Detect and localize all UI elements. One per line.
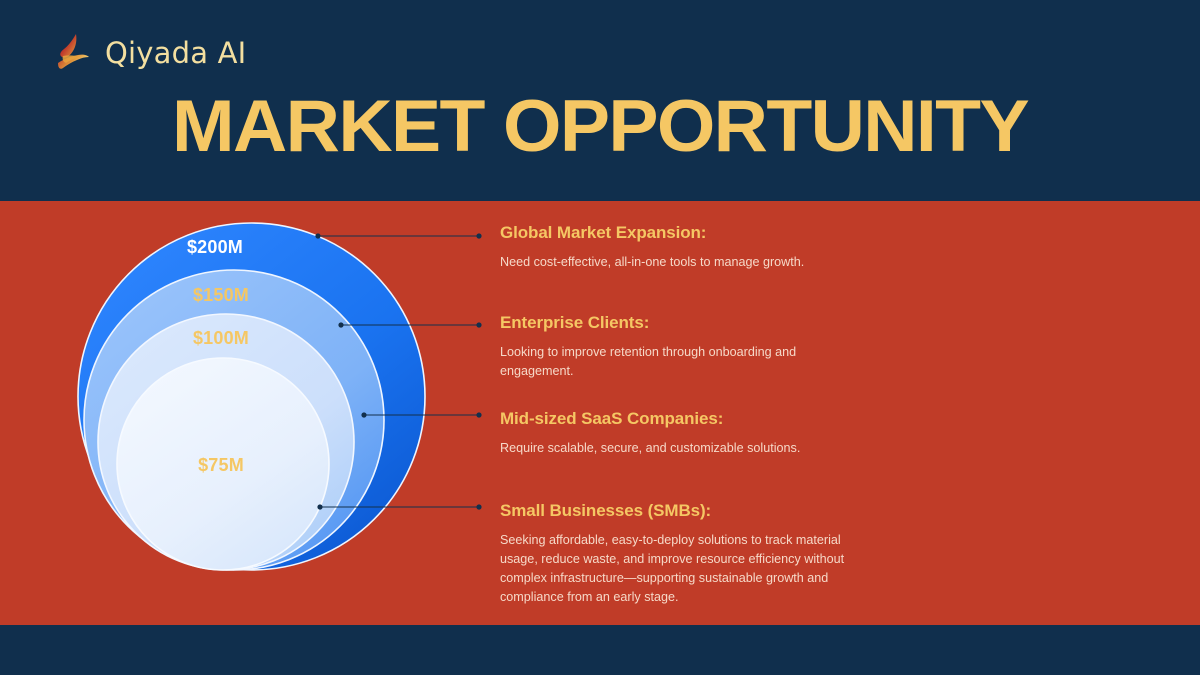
spacer [500,272,848,312]
segment-body: Require scalable, secure, and customizab… [500,439,848,458]
circle-label-75m: $75M [60,455,382,476]
slide-footer [0,625,1200,675]
segment-heading: Global Market Expansion: [500,222,848,244]
slide-header: Qiyada AI MARKET OPPORTUNITY [0,0,1200,201]
slide-market-opportunity: Qiyada AI MARKET OPPORTUNITY [0,0,1200,675]
segments-list: Global Market Expansion: Need cost-effec… [500,222,848,607]
flame-bird-logo-icon [54,32,94,74]
nested-circles-chart: $200M $150M $100M $75M [60,210,460,590]
spacer [500,458,848,500]
segment-body: Need cost-effective, all-in-one tools to… [500,253,848,272]
segment-mid-sized-saas-companies: Mid-sized SaaS Companies: Require scalab… [500,408,848,458]
segment-heading: Enterprise Clients: [500,312,848,334]
segment-heading: Mid-sized SaaS Companies: [500,408,848,430]
spacer [500,381,848,408]
segment-global-market-expansion: Global Market Expansion: Need cost-effec… [500,222,848,272]
circle-label-150m: $150M [60,285,382,306]
brand-logo: Qiyada AI [54,30,246,76]
circle-label-200m: $200M [60,237,370,258]
segment-body: Seeking affordable, easy-to-deploy solut… [500,531,848,607]
segment-heading: Small Businesses (SMBs): [500,500,848,522]
brand-name: Qiyada AI [105,39,246,68]
segment-body: Looking to improve retention through onb… [500,343,848,381]
segment-enterprise-clients: Enterprise Clients: Looking to improve r… [500,312,848,381]
segment-small-businesses-smbs: Small Businesses (SMBs): Seeking afforda… [500,500,848,607]
page-title: MARKET OPPORTUNITY [0,84,1200,170]
circle-label-100m: $100M [60,328,382,349]
